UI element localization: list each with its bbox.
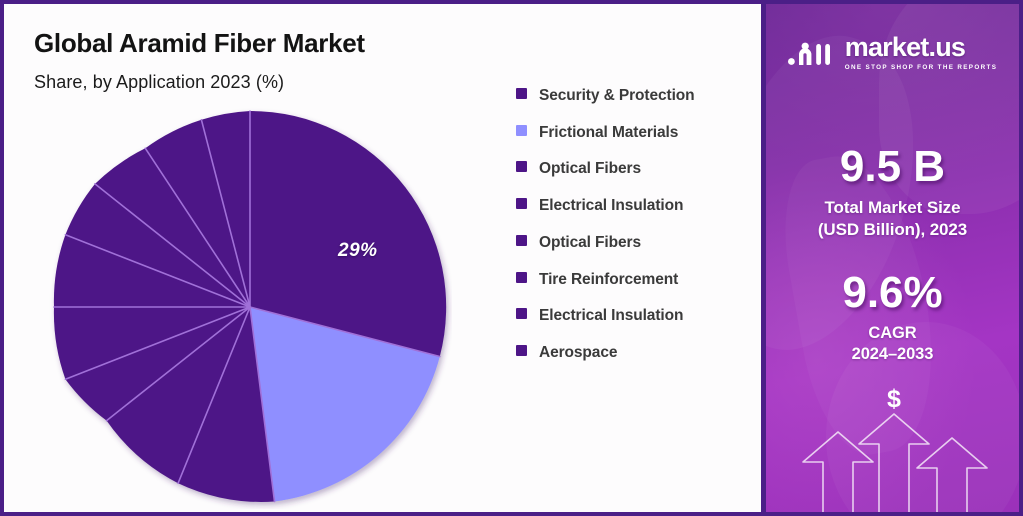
up-arrow-icon-right [917, 438, 987, 512]
chart-panel: Global Aramid Fiber Market Share, by App… [0, 0, 766, 516]
growth-arrows-graphic: $ [766, 382, 1023, 512]
page-title: Global Aramid Fiber Market [34, 28, 365, 59]
cagr-caption: CAGR 2024–2033 [766, 323, 1019, 365]
legend-swatch-electrical-insulation-2-icon [516, 308, 527, 319]
legend-swatch-electrical-insulation-icon [516, 198, 527, 209]
legend-item-electrical-insulation-2[interactable]: Electrical Insulation [516, 304, 756, 328]
logo-text-wrap: market.us ONE STOP SHOP FOR THE REPORTS [845, 34, 998, 71]
market-size-caption: Total Market Size (USD Billion), 2023 [766, 197, 1019, 241]
brand-logo[interactable]: market.us ONE STOP SHOP FOR THE REPORTS [766, 34, 1019, 71]
legend-label-aerospace: Aerospace [539, 341, 756, 365]
legend-label-optical-fibers-2: Optical Fibers [539, 231, 756, 255]
legend-swatch-frictional-materials-icon [516, 125, 527, 136]
legend-item-tire-reinforcement[interactable]: Tire Reinforcement [516, 268, 756, 292]
chart-legend: Security & Protection Frictional Materia… [516, 84, 756, 378]
market-size-caption-line1: Total Market Size [825, 198, 961, 217]
stat-market-size: 9.5 B Total Market Size (USD Billion), 2… [766, 144, 1019, 241]
market-us-logo-mark-icon [788, 36, 836, 70]
page-subtitle: Share, by Application 2023 (%) [34, 72, 284, 93]
legend-item-aerospace[interactable]: Aerospace [516, 341, 756, 365]
legend-item-security-protection[interactable]: Security & Protection [516, 84, 756, 108]
legend-item-optical-fibers[interactable]: Optical Fibers [516, 157, 756, 181]
legend-label-electrical-insulation: Electrical Insulation [539, 194, 756, 218]
stat-cagr: 9.6% CAGR 2024–2033 [766, 270, 1019, 365]
market-size-value: 9.5 B [766, 144, 1019, 190]
logo-tagline: ONE STOP SHOP FOR THE REPORTS [845, 64, 998, 71]
up-arrow-icon-center [859, 414, 929, 512]
cagr-value: 9.6% [766, 270, 1019, 316]
cagr-caption-line2: 2024–2033 [852, 345, 934, 363]
dollar-sign-icon: $ [887, 385, 901, 413]
pie-chart-svg [48, 105, 452, 509]
legend-label-security-protection: Security & Protection [539, 84, 756, 108]
logo-wordmark: market.us [845, 34, 965, 61]
pie-chart: 29% [48, 105, 452, 509]
stats-panel: market.us ONE STOP SHOP FOR THE REPORTS … [766, 0, 1023, 516]
market-size-caption-line2: (USD Billion), 2023 [818, 220, 967, 239]
legend-label-frictional-materials: Frictional Materials [539, 121, 756, 145]
legend-item-frictional-materials[interactable]: Frictional Materials [516, 121, 756, 145]
legend-swatch-optical-fibers-2-icon [516, 235, 527, 246]
legend-label-tire-reinforcement: Tire Reinforcement [539, 268, 756, 292]
legend-swatch-security-protection-icon [516, 88, 527, 99]
legend-swatch-optical-fibers-icon [516, 161, 527, 172]
legend-item-electrical-insulation[interactable]: Electrical Insulation [516, 194, 756, 218]
market-report-infographic: Global Aramid Fiber Market Share, by App… [0, 0, 1023, 516]
cagr-caption-line1: CAGR [868, 324, 916, 342]
legend-label-optical-fibers: Optical Fibers [539, 157, 756, 181]
legend-swatch-aerospace-icon [516, 345, 527, 356]
legend-item-optical-fibers-2[interactable]: Optical Fibers [516, 231, 756, 255]
legend-label-electrical-insulation-2: Electrical Insulation [539, 304, 756, 328]
legend-swatch-tire-reinforcement-icon [516, 272, 527, 283]
